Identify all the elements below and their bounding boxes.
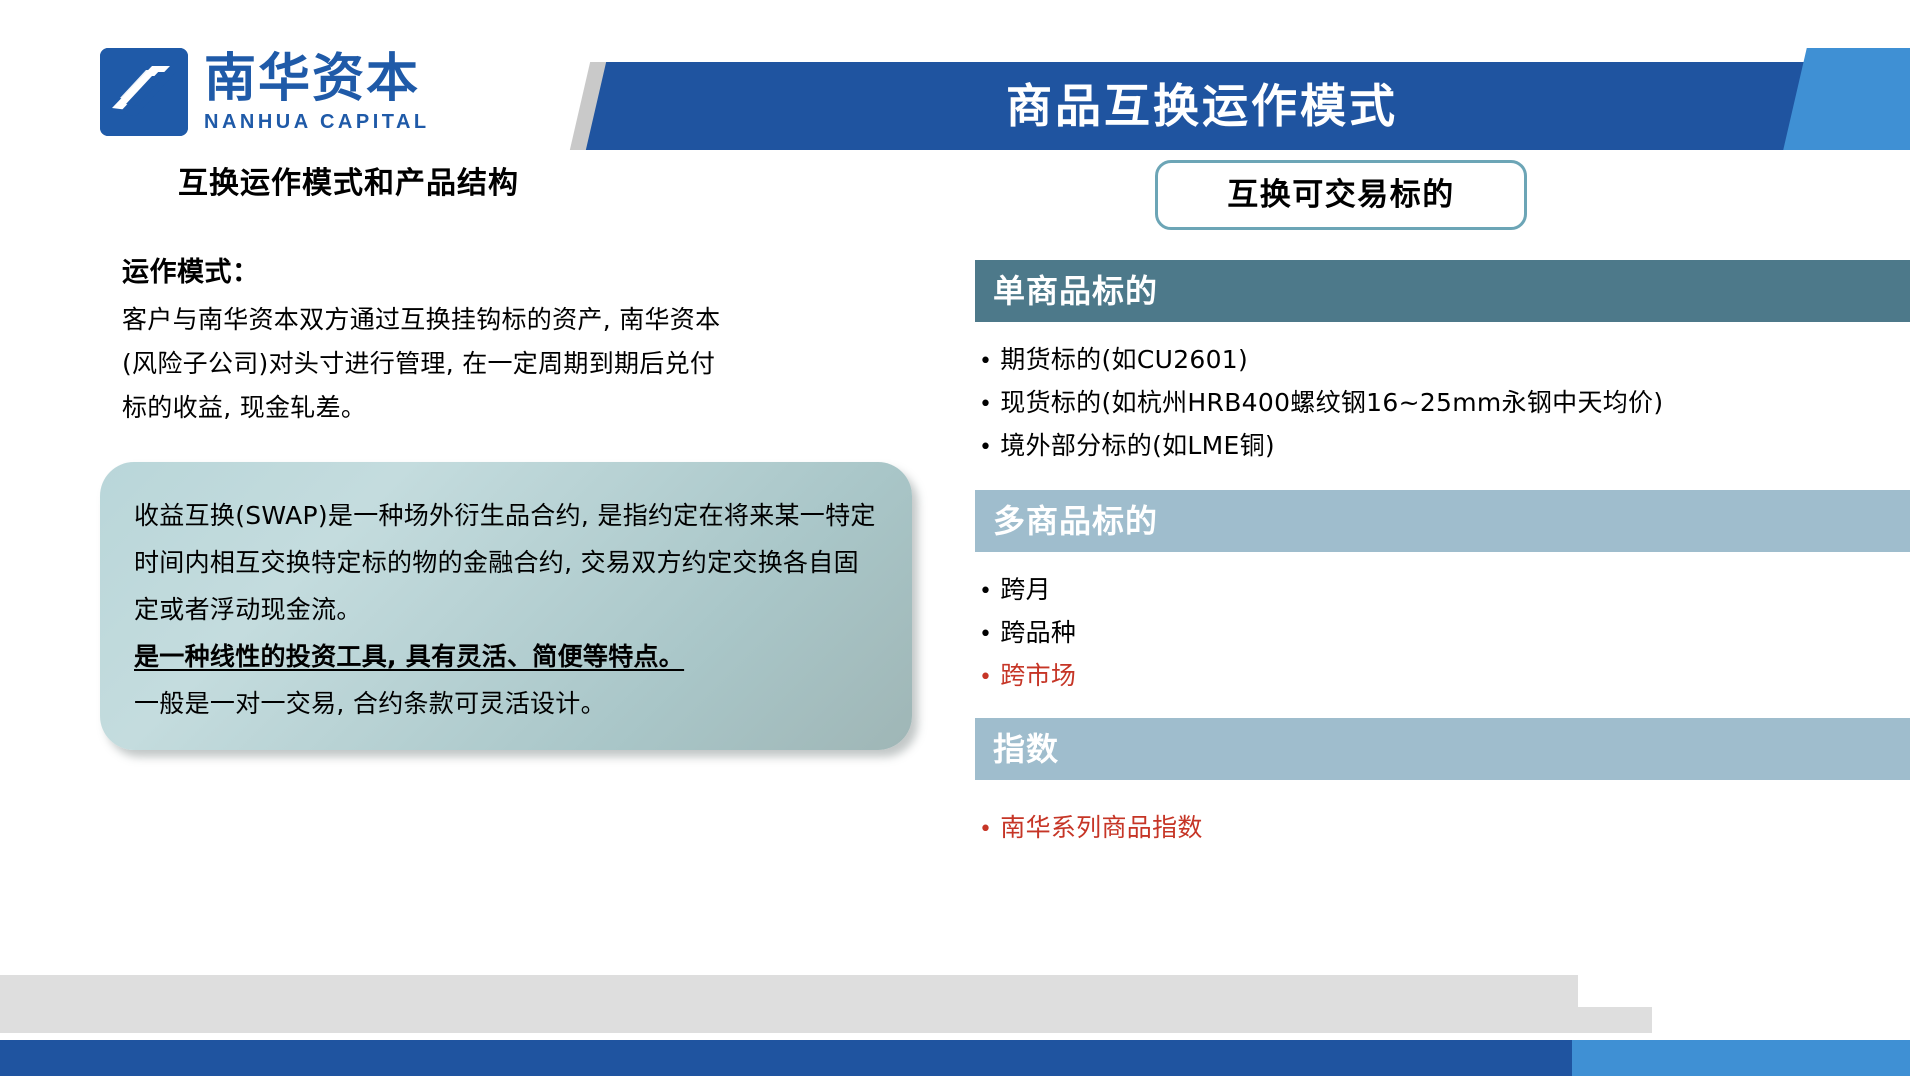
bullet-dot-icon: •	[979, 394, 992, 416]
swap-emphasis-line: 是一种线性的投资工具, 具有灵活、简便等特点。	[134, 633, 878, 680]
header-accent-decoration	[1783, 48, 1910, 150]
list-item-label: 跨品种	[1000, 611, 1076, 654]
section-single-commodity-list: • 期货标的(如CU2601) • 现货标的(如杭州HRB400螺纹钢16~25…	[975, 322, 1910, 467]
section-multi-commodity: 多商品标的 • 跨月 • 跨品种 • 跨市场	[975, 490, 1910, 697]
section-index-list: • 南华系列商品指数	[975, 780, 1910, 849]
list-item-label: 跨月	[1000, 568, 1051, 611]
list-item: • 境外部分标的(如LME铜)	[975, 424, 1910, 467]
left-column: 互换运作模式和产品结构 运作模式： 客户与南华资本双方通过互换挂钩标的资产, 南…	[0, 150, 940, 960]
brand-name-cn: 南华资本	[204, 53, 430, 105]
section-multi-commodity-header: 多商品标的	[975, 490, 1910, 552]
list-item: • 现货标的(如杭州HRB400螺纹钢16~25mm永钢中天均价)	[975, 381, 1910, 424]
footer-grey-band-lower	[0, 1007, 1652, 1033]
list-item-label: 现货标的(如杭州HRB400螺纹钢16~25mm永钢中天均价)	[1000, 381, 1663, 424]
list-item-label: 期货标的(如CU2601)	[1000, 338, 1248, 381]
operating-mode-paragraph: 客户与南华资本双方通过互换挂钩标的资产, 南华资本(风险子公司)对头寸进行管理,…	[122, 298, 722, 430]
nanhua-logo-mark-icon	[100, 48, 188, 136]
right-column: 互换可交易标的 单商品标的 • 期货标的(如CU2601) • 现货标的(如杭州…	[975, 150, 1910, 960]
page-title: 商品互换运作模式	[612, 62, 1792, 150]
bullet-dot-icon: •	[979, 581, 992, 603]
bullet-dot-icon: •	[979, 624, 992, 646]
list-item: • 跨市场	[975, 654, 1910, 697]
brand-logo: 南华资本 NANHUA CAPITAL	[100, 48, 430, 136]
brand-name-en: NANHUA CAPITAL	[204, 112, 430, 132]
section-multi-commodity-list: • 跨月 • 跨品种 • 跨市场	[975, 552, 1910, 697]
footer-grey-band-upper	[0, 975, 1578, 1007]
brand-logo-text: 南华资本 NANHUA CAPITAL	[204, 53, 430, 132]
list-item-label: 境外部分标的(如LME铜)	[1000, 424, 1275, 467]
section-single-commodity-header: 单商品标的	[975, 260, 1910, 322]
left-section-heading: 互换运作模式和产品结构	[178, 158, 519, 202]
tradable-subjects-pill-title: 互换可交易标的	[1155, 160, 1527, 230]
bullet-dot-icon: •	[979, 351, 992, 373]
section-index: 指数 • 南华系列商品指数	[975, 718, 1910, 849]
list-item: • 跨品种	[975, 611, 1910, 654]
swap-definition-callout: 收益互换(SWAP)是一种场外衍生品合约, 是指约定在将来某一特定时间内相互交换…	[100, 462, 912, 750]
footer-blue-accent	[1572, 1040, 1910, 1076]
list-item: • 跨月	[975, 568, 1910, 611]
section-index-header: 指数	[975, 718, 1910, 780]
bullet-dot-icon: •	[979, 667, 992, 689]
list-item: • 南华系列商品指数	[975, 806, 1910, 849]
section-single-commodity: 单商品标的 • 期货标的(如CU2601) • 现货标的(如杭州HRB400螺纹…	[975, 260, 1910, 467]
slide: 南华资本 NANHUA CAPITAL 商品互换运作模式 互换运作模式和产品结构…	[0, 0, 1910, 1076]
operating-mode-label: 运作模式：	[122, 250, 260, 289]
list-item-label: 南华系列商品指数	[1000, 806, 1202, 849]
list-item-label: 跨市场	[1000, 654, 1076, 697]
list-item: • 期货标的(如CU2601)	[975, 338, 1910, 381]
slide-header: 南华资本 NANHUA CAPITAL 商品互换运作模式	[0, 0, 1910, 150]
swap-note-line: 一般是一对一交易, 合约条款可灵活设计。	[134, 680, 878, 727]
bullet-dot-icon: •	[979, 819, 992, 841]
swap-definition-line: 收益互换(SWAP)是一种场外衍生品合约, 是指约定在将来某一特定时间内相互交换…	[134, 492, 878, 633]
bullet-dot-icon: •	[979, 437, 992, 459]
